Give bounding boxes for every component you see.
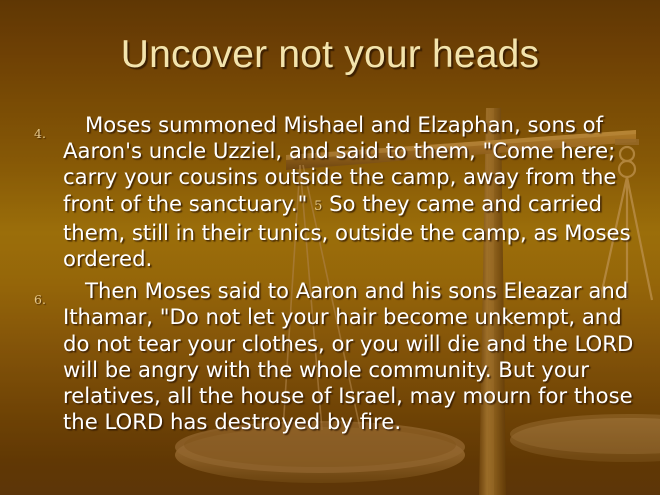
slide-body: 4. Moses summoned Mishael and Elzaphan, … xyxy=(27,112,635,441)
list-marker-4: 4. xyxy=(34,121,46,147)
presentation-slide: Uncover not your heads 4. Moses summoned… xyxy=(0,0,660,495)
list-marker-6: 6. xyxy=(34,287,46,313)
verse-text-6: Then Moses said to Aaron and his sons El… xyxy=(63,278,633,434)
bullet-paragraph-1: 4. Moses summoned Mishael and Elzaphan, … xyxy=(27,112,635,272)
bullet-paragraph-2: 6. Then Moses said to Aaron and his sons… xyxy=(27,278,635,435)
slide-title: Uncover not your heads xyxy=(0,33,660,77)
